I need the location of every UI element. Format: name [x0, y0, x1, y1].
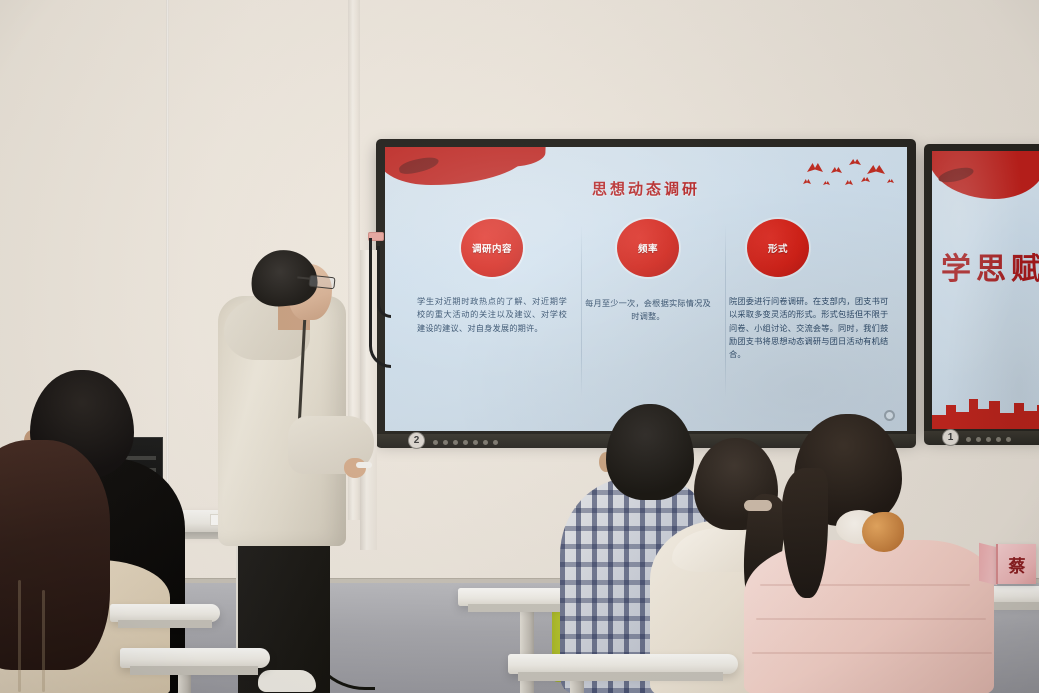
power-icon[interactable] [966, 437, 971, 442]
side-display[interactable]: 学思赋 1 [924, 144, 1039, 436]
circle-label-format: 形式 [747, 219, 809, 277]
presenter-shoe [258, 670, 316, 692]
display-control-buttons[interactable] [966, 435, 1011, 443]
desk-apron [518, 672, 723, 681]
desk-apron [130, 666, 258, 675]
desk-leg [178, 672, 191, 693]
name-card-fold [979, 543, 997, 585]
city-skyline-icon [932, 385, 1039, 429]
name-card: 蔡 [996, 544, 1036, 584]
puffer-seam [752, 652, 992, 654]
home-icon[interactable] [483, 440, 488, 445]
back-icon[interactable] [493, 440, 498, 445]
volume-down-icon[interactable] [996, 437, 1001, 442]
puffer-seam [756, 618, 986, 620]
desk-apron [118, 620, 212, 628]
column-body-text: 院团委进行问卷调研。在支部内，团支书可以采取多变灵活的形式。形式包括但不限于问卷… [729, 295, 889, 361]
circle-label-survey-content: 调研内容 [461, 219, 523, 277]
slide-columns: 调研内容 学生对近期时政热点的了解、对近期学校的重大活动的关注以及建议、对学校建… [417, 219, 889, 409]
student-long-hair [0, 440, 110, 670]
display-number-badge: 2 [408, 432, 425, 449]
display-control-buttons[interactable] [433, 438, 498, 446]
student-head [606, 404, 694, 500]
classroom-scene: 思想动态调研 调研内容 学生对近期时政热点的了解、对近期学校的重大活动的关注以及… [0, 0, 1039, 693]
volume-up-icon[interactable] [1006, 437, 1011, 442]
volume-up-icon[interactable] [473, 440, 478, 445]
side-display-screen: 学思赋 [932, 151, 1039, 429]
slide-column-1: 调研内容 学生对近期时政热点的了解、对近期学校的重大活动的关注以及建议、对学校建… [417, 219, 567, 409]
puffer-seam [760, 584, 970, 586]
presenter-hand [344, 458, 366, 478]
presentation-clicker[interactable] [356, 462, 372, 468]
hanging-cable [377, 246, 391, 318]
camera-lens-icon [884, 410, 895, 421]
knit-rib [18, 580, 21, 692]
glasses-icon [308, 275, 335, 290]
slide-column-3: 形式 院团委进行问卷调研。在支部内，团支书可以采取多变灵活的形式。形式包括但不限… [729, 219, 889, 409]
circle-label-frequency: 频率 [617, 219, 679, 277]
student-pink-puffer [744, 540, 994, 693]
power-icon[interactable] [433, 440, 438, 445]
volume-down-icon[interactable] [463, 440, 468, 445]
red-ribbon-decor [932, 151, 1039, 199]
column-body-text: 学生对近期时政热点的了解、对近期学校的重大活动的关注以及建议、对学校建设的建议、… [417, 295, 567, 335]
wall-seam [166, 0, 169, 560]
knit-rib [42, 590, 45, 692]
slide-column-2: 频率 每月至少一次，会根据实际情况及时调整。 [585, 219, 711, 409]
hair-scrunchie [862, 512, 904, 552]
student-desk [120, 648, 270, 668]
source-icon[interactable] [986, 437, 991, 442]
main-display[interactable]: 思想动态调研 调研内容 学生对近期时政热点的了解、对近期学校的重大活动的关注以及… [376, 139, 916, 439]
main-display-screen: 思想动态调研 调研内容 学生对近期时政热点的了解、对近期学校的重大活动的关注以及… [385, 147, 907, 431]
display-number-badge: 1 [942, 429, 959, 446]
column-body-text: 每月至少一次，会根据实际情况及时调整。 [585, 297, 711, 324]
slide-title: 思想动态调研 [385, 178, 907, 199]
hair-tie [744, 500, 772, 511]
student-desk [508, 654, 738, 674]
menu-icon[interactable] [976, 437, 981, 442]
side-slide-title: 学思赋 [941, 244, 1039, 288]
source-icon[interactable] [453, 440, 458, 445]
menu-icon[interactable] [443, 440, 448, 445]
